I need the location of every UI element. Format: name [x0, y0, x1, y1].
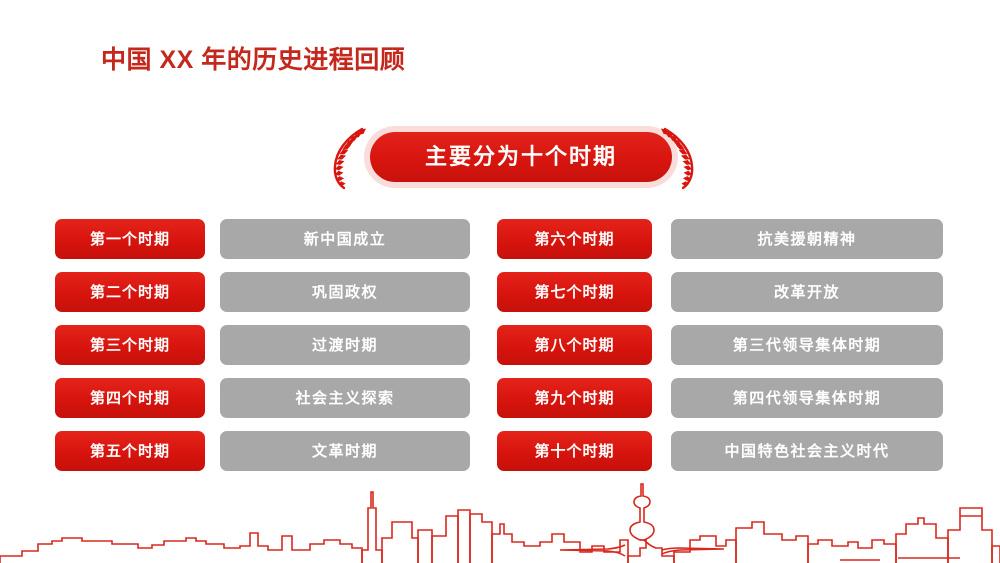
- period-name-2[interactable]: 巩固政权: [220, 272, 470, 312]
- period-index-label: 第三个时期: [90, 338, 170, 353]
- period-index-label: 第六个时期: [534, 232, 614, 247]
- period-index-label: 第四个时期: [90, 391, 170, 406]
- period-name-5[interactable]: 文革时期: [220, 431, 470, 471]
- page-title: 中国 XX 年的历史进程回顾: [101, 40, 405, 76]
- period-name-label: 新中国成立: [304, 232, 387, 247]
- period-index-5[interactable]: 第五个时期: [55, 431, 205, 471]
- period-name-label: 文革时期: [312, 444, 378, 459]
- period-index-7[interactable]: 第七个时期: [497, 272, 652, 312]
- banner-label: 主要分为十个时期: [425, 146, 617, 168]
- period-name-label: 中国特色社会主义时代: [724, 444, 889, 459]
- period-index-2[interactable]: 第二个时期: [55, 272, 205, 312]
- period-index-3[interactable]: 第三个时期: [55, 325, 205, 365]
- period-index-6[interactable]: 第六个时期: [497, 219, 652, 259]
- period-index-4[interactable]: 第四个时期: [55, 378, 205, 418]
- period-index-1[interactable]: 第一个时期: [55, 219, 205, 259]
- period-name-9[interactable]: 第四代领导集体时期: [671, 378, 943, 418]
- laurel-branch-right-icon: [653, 126, 699, 190]
- period-name-label: 第三代领导集体时期: [733, 338, 882, 353]
- period-name-label: 社会主义探索: [295, 391, 394, 406]
- period-index-label: 第八个时期: [534, 338, 614, 353]
- period-name-1[interactable]: 新中国成立: [220, 219, 470, 259]
- period-index-label: 第九个时期: [534, 391, 614, 406]
- period-name-6[interactable]: 抗美援朝精神: [671, 219, 943, 259]
- laurel-branch-left-icon: [328, 126, 374, 190]
- period-name-label: 改革开放: [774, 285, 840, 300]
- period-name-3[interactable]: 过渡时期: [220, 325, 470, 365]
- period-index-label: 第五个时期: [90, 444, 170, 459]
- period-name-4[interactable]: 社会主义探索: [220, 378, 470, 418]
- period-name-7[interactable]: 改革开放: [671, 272, 943, 312]
- period-index-label: 第一个时期: [90, 232, 170, 247]
- period-index-8[interactable]: 第八个时期: [497, 325, 652, 365]
- period-name-label: 第四代领导集体时期: [733, 391, 882, 406]
- period-name-label: 过渡时期: [312, 338, 378, 353]
- slide-canvas: 中国 XX 年的历史进程回顾 主要分为十个时期: [0, 0, 1000, 563]
- period-name-label: 抗美援朝精神: [757, 232, 856, 247]
- period-index-9[interactable]: 第九个时期: [497, 378, 652, 418]
- period-name-label: 巩固政权: [312, 285, 378, 300]
- banner-group: 主要分为十个时期: [320, 124, 705, 194]
- period-index-label: 第二个时期: [90, 285, 170, 300]
- period-index-10[interactable]: 第十个时期: [497, 431, 652, 471]
- period-name-8[interactable]: 第三代领导集体时期: [671, 325, 943, 365]
- period-name-10[interactable]: 中国特色社会主义时代: [671, 431, 943, 471]
- city-skyline-outline: [0, 478, 1000, 563]
- banner-pill: 主要分为十个时期: [370, 132, 672, 182]
- period-index-label: 第七个时期: [534, 285, 614, 300]
- period-index-label: 第十个时期: [534, 444, 614, 459]
